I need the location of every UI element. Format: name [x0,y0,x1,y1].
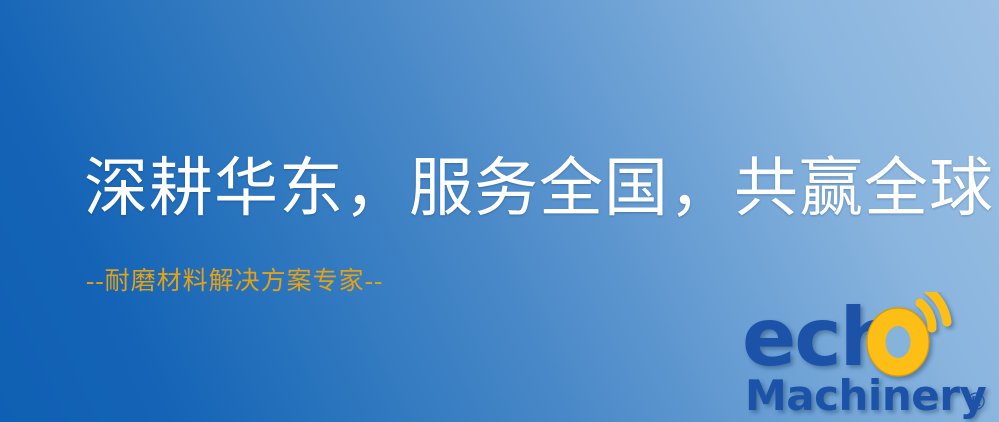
company-logo[interactable]: ech Machinery ® [742,292,999,422]
logo-letter-o-gold [867,308,929,376]
logo-text-machinery: Machinery [745,371,986,420]
logo-trademark-symbol: ® [964,388,988,416]
echo-machinery-logo-graphic: ech Machinery ® [742,292,999,422]
promo-banner: 深耕华东，服务全国，共赢全球 --耐磨材料解决方案专家-- ech [0,0,999,422]
machinery-tagline-group: Machinery ® [745,371,988,420]
banner-subtitle: --耐磨材料解决方案专家-- [86,266,383,298]
banner-headline: 深耕华东，服务全国，共赢全球 [84,150,994,228]
